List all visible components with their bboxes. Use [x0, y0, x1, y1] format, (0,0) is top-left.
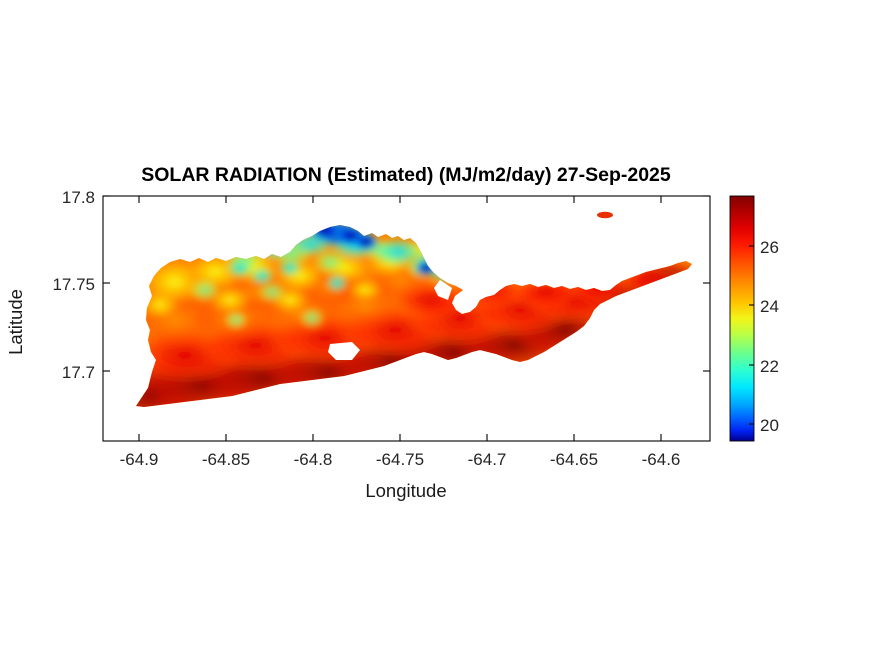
y-axis-label: Latitude	[5, 289, 26, 355]
solar-radiation-figure: -64.9 -64.85 -64.8 -64.75 -64.7 -64.65 -…	[0, 0, 875, 656]
x-tick-label: -64.85	[202, 450, 250, 469]
colorbar-tick-label: 20	[760, 416, 779, 435]
colorbar-tick-label: 24	[760, 297, 779, 316]
x-tick-label: -64.8	[294, 450, 333, 469]
x-tick-label: -64.65	[550, 450, 598, 469]
colorbar-tick-label: 22	[760, 357, 779, 376]
offshore-islet	[597, 212, 613, 218]
y-tick-label: 17.7	[62, 363, 95, 382]
x-axis-label: Longitude	[365, 480, 446, 501]
chart-title: SOLAR RADIATION (Estimated) (MJ/m2/day) …	[141, 164, 671, 186]
y-tick-label: 17.75	[52, 275, 95, 294]
x-tick-label: -64.6	[642, 450, 681, 469]
x-tick-label: -64.75	[376, 450, 424, 469]
y-tick-label: 17.8	[62, 188, 95, 207]
x-tick-labels: -64.9 -64.85 -64.8 -64.75 -64.7 -64.65 -…	[120, 450, 681, 469]
colorbar-gradient	[730, 196, 754, 441]
x-tick-label: -64.7	[468, 450, 507, 469]
colorbar-tick-label: 26	[760, 238, 779, 257]
x-tick-label: -64.9	[120, 450, 159, 469]
